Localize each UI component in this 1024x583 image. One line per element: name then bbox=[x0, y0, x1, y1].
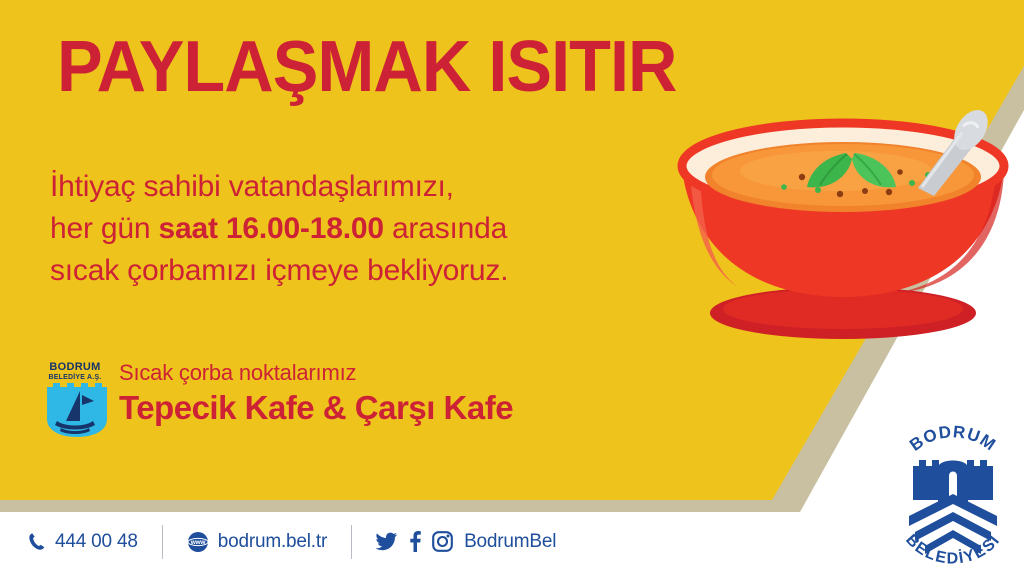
instagram-icon[interactable] bbox=[432, 531, 453, 552]
body-line-2-hours: saat 16.00-18.00 bbox=[158, 212, 383, 245]
body-copy: İhtiyaç sahibi vatandaşlarımızı, her gün… bbox=[50, 166, 508, 292]
soup-points-names: Tepecik Kafe & Çarşı Kafe bbox=[119, 388, 513, 428]
footer-contact-bar: 444 00 48 www bodrum.bel.tr bbox=[0, 500, 1024, 583]
globe-www-icon: www bbox=[187, 531, 209, 553]
svg-text:www: www bbox=[189, 539, 206, 546]
small-logo-subtitle: BELEDİYE A.Ş. bbox=[41, 374, 109, 381]
footer-website[interactable]: www bodrum.bel.tr bbox=[187, 531, 327, 553]
soup-points-block: BODRUM BELEDİYE A.Ş. Sıcak çorba noktala… bbox=[41, 358, 513, 444]
soup-points-label: Sıcak çorba noktalarımız bbox=[119, 360, 513, 386]
sailboat-shield-icon bbox=[41, 381, 109, 439]
footer-phone-number: 444 00 48 bbox=[55, 531, 138, 553]
body-line-2: her gün saat 16.00-18.00 arasında bbox=[50, 208, 508, 250]
big-logo-top-text: BODRUM bbox=[906, 424, 999, 455]
bodrum-belediye-small-logo: BODRUM BELEDİYE A.Ş. bbox=[41, 362, 109, 444]
body-line-2-pre: her gün bbox=[50, 212, 158, 245]
footer-phone[interactable]: 444 00 48 bbox=[28, 531, 138, 553]
facebook-icon[interactable] bbox=[409, 531, 421, 552]
svg-text:BODRUM: BODRUM bbox=[906, 424, 999, 455]
footer-social[interactable]: BodrumBel bbox=[376, 531, 556, 553]
poster-canvas: PAYLAŞMAK ISITIR İhtiyaç sahibi vatandaş… bbox=[0, 0, 1024, 583]
phone-icon bbox=[28, 532, 46, 551]
footer-social-handle: BodrumBel bbox=[464, 531, 556, 553]
page-title: PAYLAŞMAK ISITIR bbox=[57, 31, 676, 103]
soup-bowl-illustration bbox=[660, 95, 1024, 355]
body-line-2-post: arasında bbox=[384, 212, 507, 245]
small-logo-name: BODRUM bbox=[41, 362, 109, 373]
body-line-3: sıcak çorbamızı içmeye bekliyoruz. bbox=[50, 250, 508, 292]
body-line-1: İhtiyaç sahibi vatandaşlarımızı, bbox=[50, 166, 508, 208]
footer-divider-2 bbox=[351, 525, 352, 559]
footer-divider-1 bbox=[162, 525, 163, 559]
footer-website-url: bodrum.bel.tr bbox=[218, 531, 327, 553]
twitter-icon[interactable] bbox=[376, 532, 398, 552]
